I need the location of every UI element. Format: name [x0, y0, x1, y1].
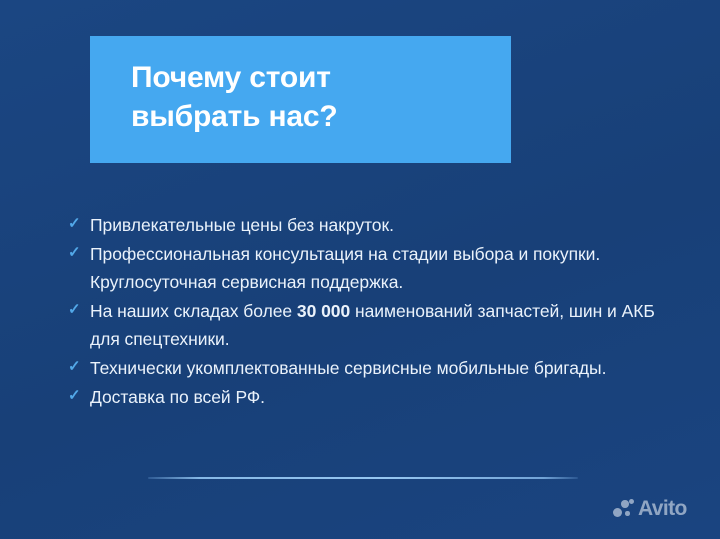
- check-icon: ✓: [68, 300, 82, 320]
- slide-canvas: Почему стоит выбрать нас? ✓Привлекательн…: [0, 0, 720, 539]
- avito-dots-icon: [613, 498, 635, 520]
- page-title-line-2: выбрать нас?: [131, 97, 511, 136]
- avito-wordmark: Avito: [638, 498, 687, 520]
- divider: [148, 477, 578, 479]
- check-icon: ✓: [68, 386, 82, 406]
- check-icon: ✓: [68, 243, 82, 263]
- title-banner: Почему стоит выбрать нас?: [90, 36, 511, 163]
- list-item-label: Профессиональная консультация на стадии …: [90, 244, 600, 293]
- list-item-label: Привлекательные цены без накруток.: [90, 215, 394, 235]
- check-icon: ✓: [68, 214, 82, 234]
- list-item-label: На наших складах более 30 000 наименован…: [90, 301, 655, 350]
- list-item: ✓Профессиональная консультация на стадии…: [68, 240, 668, 297]
- check-icon: ✓: [68, 357, 82, 377]
- list-item-label: Технически укомплектованные сервисные мо…: [90, 358, 606, 378]
- list-item: ✓На наших складах более 30 000 наименова…: [68, 297, 668, 354]
- list-item: ✓Доставка по всей РФ.: [68, 383, 668, 412]
- list-item: ✓Технически укомплектованные сервисные м…: [68, 354, 668, 383]
- page-title-line-1: Почему стоит: [131, 58, 511, 97]
- benefits-list: ✓Привлекательные цены без накруток.✓Проф…: [68, 211, 668, 411]
- list-item: ✓Привлекательные цены без накруток.: [68, 211, 668, 240]
- list-item-label: Доставка по всей РФ.: [90, 387, 265, 407]
- avito-watermark: Avito: [613, 498, 687, 520]
